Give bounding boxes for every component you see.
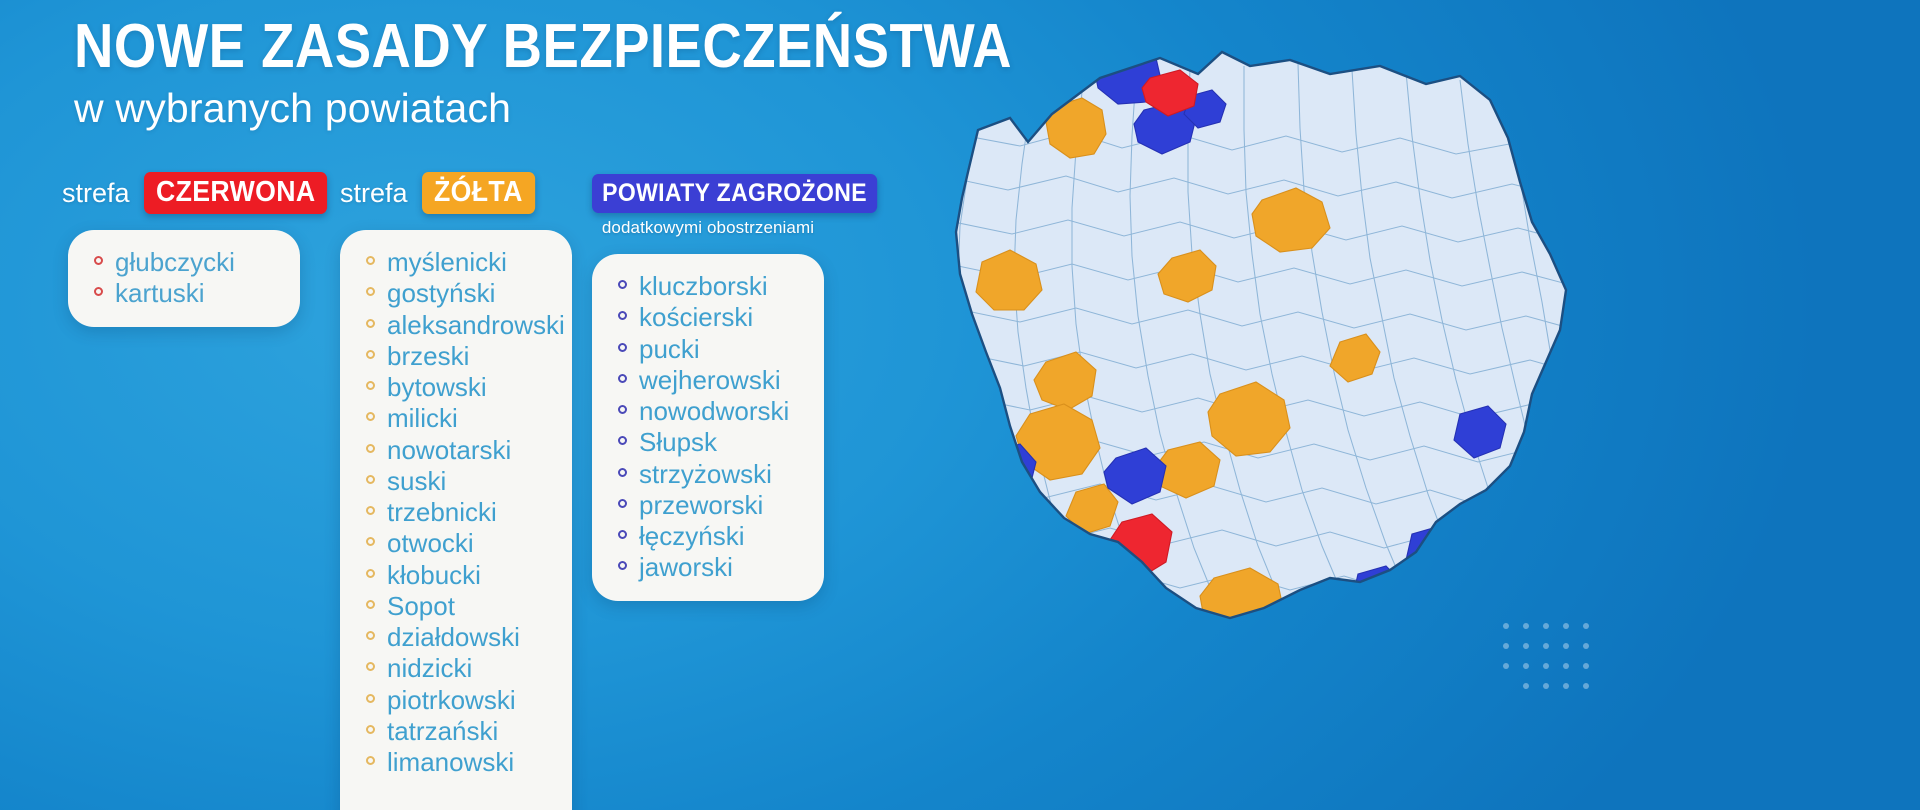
powiat-name-threatened: przeworski: [639, 491, 763, 520]
list-item: strzyżowski: [618, 459, 804, 490]
powiat-name-yellow: tatrzański: [387, 717, 498, 746]
powiat-name-yellow: Sopot: [387, 592, 455, 621]
powiat-name-yellow: limanowski: [387, 748, 514, 777]
list-item: aleksandrowski: [366, 310, 552, 341]
legend-prefix-yellow: strefa: [340, 178, 408, 209]
powiat-list-red: głubczyckikartuski: [94, 247, 280, 310]
bullet-icon: [366, 319, 375, 328]
bullet-icon: [366, 725, 375, 734]
powiat-list-threatened: kluczborskikościerskipuckiwejherowskinow…: [618, 271, 804, 584]
bullet-icon: [94, 287, 103, 296]
powiat-name-yellow: gostyński: [387, 279, 495, 308]
powiat-name-yellow: otwocki: [387, 529, 474, 558]
list-item: kartuski: [94, 278, 280, 309]
bullet-icon: [618, 468, 627, 477]
powiat-name-threatened: wejherowski: [639, 366, 781, 395]
powiat-name-yellow: bytowski: [387, 373, 487, 402]
powiat-name-threatened: jaworski: [639, 553, 733, 582]
powiat-name-yellow: brzeski: [387, 342, 469, 371]
bullet-icon: [366, 756, 375, 765]
bullet-icon: [618, 499, 627, 508]
powiat-name-yellow: piotrkowski: [387, 686, 516, 715]
bullet-icon: [366, 537, 375, 546]
legend-badge-row-red: strefa CZERWONA: [62, 172, 362, 214]
legend-column-threatened: POWIATY ZAGROŻONE dodatkowymi obostrzeni…: [592, 172, 837, 601]
powiat-name-yellow: nidzicki: [387, 654, 472, 683]
list-item: działdowski: [366, 622, 552, 653]
status-badge-threatened: POWIATY ZAGROŻONE: [592, 174, 877, 213]
bullet-icon: [366, 350, 375, 359]
bullet-icon: [366, 381, 375, 390]
list-item: głubczycki: [94, 247, 280, 278]
powiat-list-yellow: myślenickigostyńskialeksandrowskibrzeski…: [366, 247, 552, 778]
bullet-icon: [366, 631, 375, 640]
status-badge-yellow: ŻÓŁTA: [422, 172, 535, 213]
list-item: wejherowski: [618, 365, 804, 396]
powiat-highlight-navy: [1448, 554, 1496, 602]
bullet-icon: [618, 311, 627, 320]
bullet-icon: [366, 444, 375, 453]
legend-badge-row-threatened: POWIATY ZAGROŻONE: [592, 172, 837, 214]
powiat-name-yellow: myślenicki: [387, 248, 507, 277]
list-item: otwocki: [366, 528, 552, 559]
powiat-name-yellow: aleksandrowski: [387, 311, 565, 340]
bullet-icon: [366, 600, 375, 609]
list-item: nowodworski: [618, 396, 804, 427]
threatened-badge-subtitle: dodatkowymi obostrzeniami: [592, 218, 824, 238]
decorative-dot-grid: [1503, 623, 1589, 689]
list-item: piotrkowski: [366, 685, 552, 716]
powiat-name-yellow: milicki: [387, 404, 458, 433]
powiat-name-red: kartuski: [115, 279, 205, 308]
list-item: limanowski: [366, 747, 552, 778]
list-item: kluczborski: [618, 271, 804, 302]
bullet-icon: [618, 374, 627, 383]
bullet-icon: [366, 662, 375, 671]
bullet-icon: [618, 561, 627, 570]
bullet-icon: [366, 256, 375, 265]
list-item: nidzicki: [366, 653, 552, 684]
map-container: [860, 22, 1620, 702]
bullet-icon: [366, 412, 375, 421]
bullet-icon: [366, 694, 375, 703]
bullet-icon: [618, 436, 627, 445]
list-item: kościerski: [618, 302, 804, 333]
list-item: Sopot: [366, 591, 552, 622]
list-item: przeworski: [618, 490, 804, 521]
list-item: nowotarski: [366, 435, 552, 466]
powiat-name-red: głubczycki: [115, 248, 235, 277]
legend-badge-row-yellow: strefa ŻÓŁTA: [340, 172, 585, 214]
list-card-red: głubczyckikartuski: [68, 230, 300, 327]
powiat-name-yellow: działdowski: [387, 623, 520, 652]
legend-column-yellow: strefa ŻÓŁTA myślenickigostyńskialeksand…: [340, 172, 585, 810]
list-item: brzeski: [366, 341, 552, 372]
powiat-name-yellow: trzebnicki: [387, 498, 497, 527]
bullet-icon: [366, 506, 375, 515]
status-badge-red: CZERWONA: [144, 172, 327, 213]
powiat-name-threatened: łęczyński: [639, 522, 744, 551]
map-base-layer: [860, 22, 1620, 702]
bullet-icon: [94, 256, 103, 265]
bullet-icon: [366, 569, 375, 578]
list-item: jaworski: [618, 552, 804, 583]
list-item: bytowski: [366, 372, 552, 403]
list-item: tatrzański: [366, 716, 552, 747]
bullet-icon: [618, 343, 627, 352]
list-item: pucki: [618, 334, 804, 365]
list-item: łęczyński: [618, 521, 804, 552]
list-item: gostyński: [366, 278, 552, 309]
infographic-root: NOWE ZASADY BEZPIECZEŃSTWA w wybranych p…: [0, 0, 1920, 810]
list-item: milicki: [366, 403, 552, 434]
powiat-name-threatened: nowodworski: [639, 397, 789, 426]
powiat-highlight-navy: [1406, 526, 1458, 578]
powiat-name-yellow: suski: [387, 467, 446, 496]
list-card-yellow: myślenickigostyńskialeksandrowskibrzeski…: [340, 230, 572, 810]
list-item: myślenicki: [366, 247, 552, 278]
powiat-name-threatened: pucki: [639, 335, 700, 364]
poland-map-svg: [860, 22, 1620, 702]
powiat-name-yellow: nowotarski: [387, 436, 511, 465]
bullet-icon: [618, 405, 627, 414]
powiat-name-threatened: Słupsk: [639, 428, 717, 457]
list-item: Słupsk: [618, 427, 804, 458]
list-item: kłobucki: [366, 560, 552, 591]
legend-column-red: strefa CZERWONA głubczyckikartuski: [62, 172, 362, 327]
powiat-name-yellow: kłobucki: [387, 561, 481, 590]
legend-prefix-red: strefa: [62, 178, 130, 209]
list-item: trzebnicki: [366, 497, 552, 528]
bullet-icon: [618, 280, 627, 289]
powiat-name-threatened: strzyżowski: [639, 460, 772, 489]
bullet-icon: [618, 530, 627, 539]
bullet-icon: [366, 475, 375, 484]
bullet-icon: [366, 287, 375, 296]
powiat-name-threatened: kluczborski: [639, 272, 768, 301]
powiat-highlight-yellow: [1274, 616, 1322, 660]
list-card-threatened: kluczborskikościerskipuckiwejherowskinow…: [592, 254, 824, 601]
list-item: suski: [366, 466, 552, 497]
powiat-name-threatened: kościerski: [639, 303, 753, 332]
